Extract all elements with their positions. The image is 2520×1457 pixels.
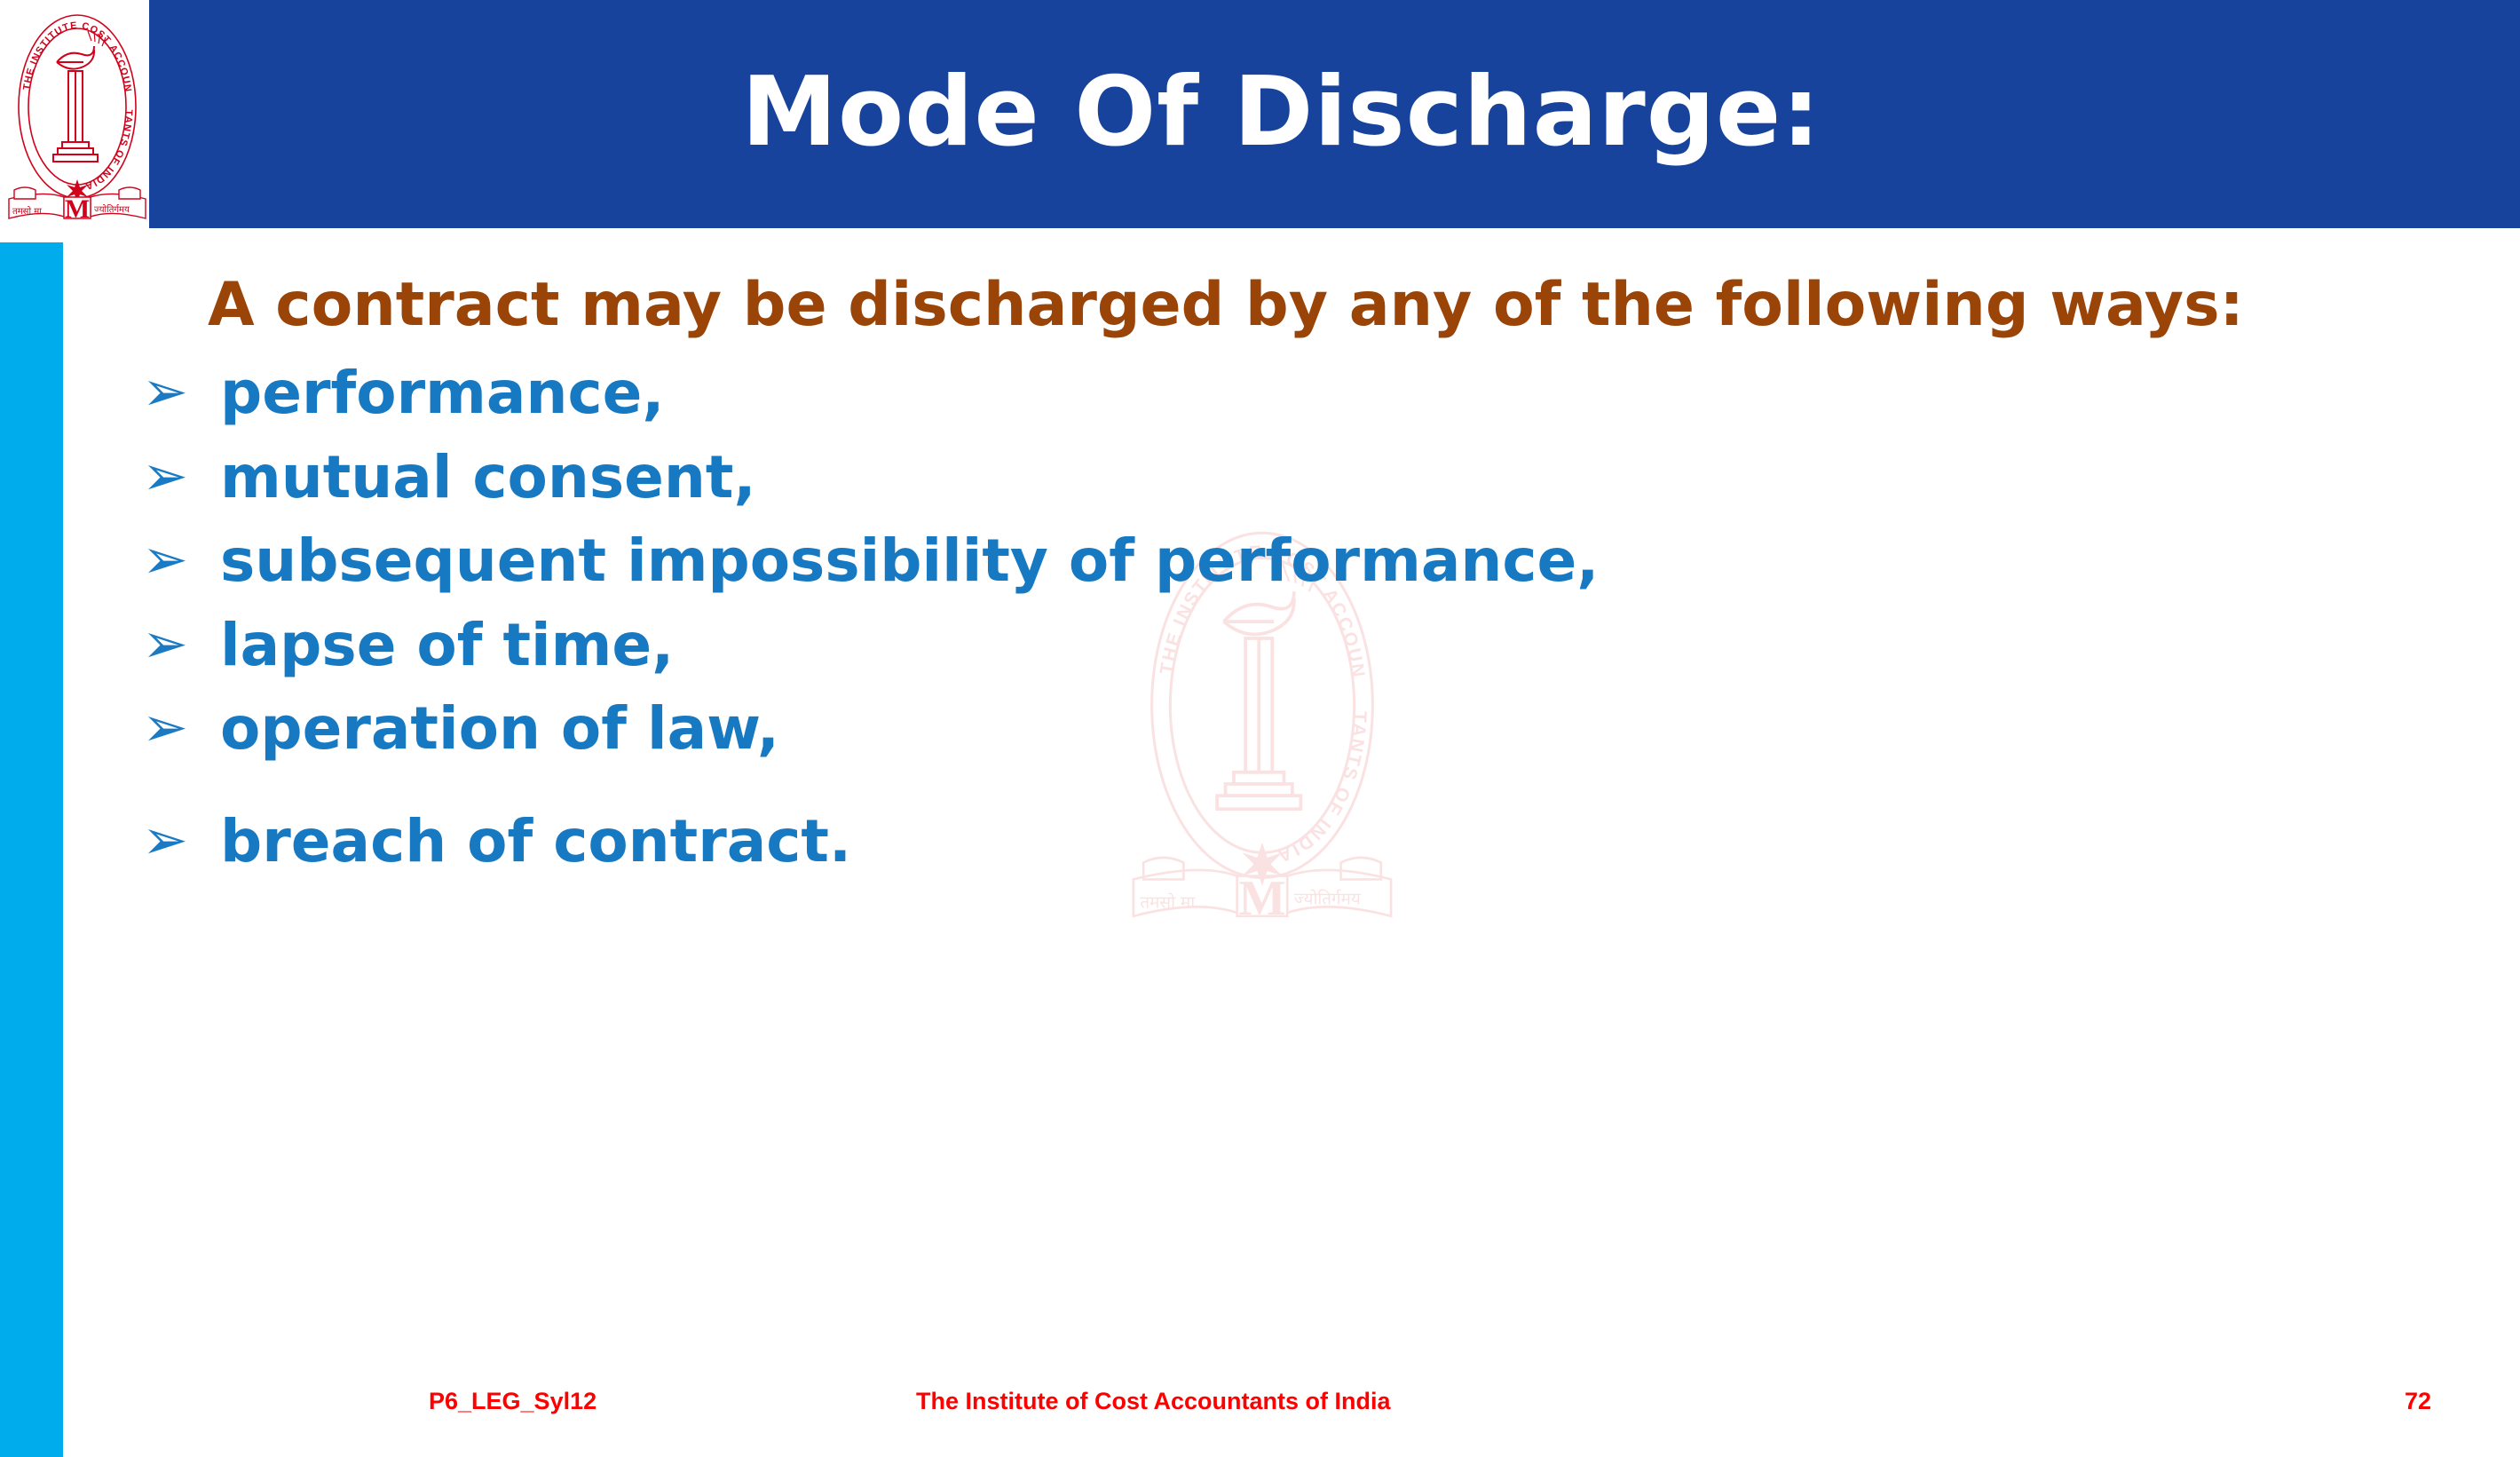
institute-logo-icon: COST ACCOUN THE INSTITUTE OF TANTS OF IN… [5, 2, 149, 233]
arrow-bullet-icon: ➢ [142, 526, 220, 593]
list-item: ➢ subsequent impossibility of performanc… [0, 526, 2520, 598]
svg-text:THE INSTITUTE OF: THE INSTITUTE OF [5, 2, 78, 91]
list-item-label: mutual consent, [220, 442, 756, 514]
list-item: ➢ mutual consent, [0, 442, 2520, 514]
list-item: ➢ operation of law, [0, 693, 2520, 765]
presentation-slide: COST ACCOUN THE INSTITUTE OF TANTS OF IN… [0, 0, 2520, 1457]
lead-statement: A contract may be discharged by any of t… [0, 266, 2520, 344]
list-item: ➢ lapse of time, [0, 610, 2520, 682]
page-title: Mode Of Discharge: [149, 57, 2520, 168]
list-item-label: lapse of time, [220, 610, 674, 682]
slide-body: A contract may be discharged by any of t… [0, 266, 2520, 890]
svg-text:तमसो मा: तमसो मा [1140, 892, 1196, 912]
arrow-bullet-icon: ➢ [142, 806, 220, 874]
arrow-bullet-icon: ➢ [142, 442, 220, 510]
logo-banner-right-text: ज्योतिर्गमय [94, 204, 130, 215]
svg-text:ज्योतिर्गमय: ज्योतिर्गमय [1294, 890, 1362, 909]
list-item: ➢ breach of contract. [0, 806, 2520, 878]
logo-monogram: M [65, 194, 90, 224]
title-banner: Mode Of Discharge: [149, 0, 2520, 228]
arrow-bullet-icon: ➢ [142, 610, 220, 677]
footer-subject-code: P6_LEG_Syl12 [429, 1388, 596, 1415]
arrow-bullet-icon: ➢ [142, 358, 220, 425]
footer-organisation: The Institute of Cost Accountants of Ind… [916, 1388, 1391, 1415]
list-item-label: subsequent impossibility of performance, [220, 526, 1599, 598]
arrow-bullet-icon: ➢ [142, 693, 220, 761]
discharge-modes-list: ➢ performance, ➢ mutual consent, ➢ subse… [0, 358, 2520, 877]
slide-footer: P6_LEG_Syl12 The Institute of Cost Accou… [0, 1388, 2520, 1429]
page-number: 72 [2405, 1388, 2431, 1415]
list-item-label: performance, [220, 358, 664, 430]
logo-banner-left-text: तमसो मा [12, 206, 42, 217]
list-item-label: breach of contract. [220, 806, 851, 878]
list-item: ➢ performance, [0, 358, 2520, 430]
list-item-label: operation of law, [220, 693, 779, 765]
svg-text:TANTS OF INDIA: TANTS OF INDIA [83, 109, 134, 192]
